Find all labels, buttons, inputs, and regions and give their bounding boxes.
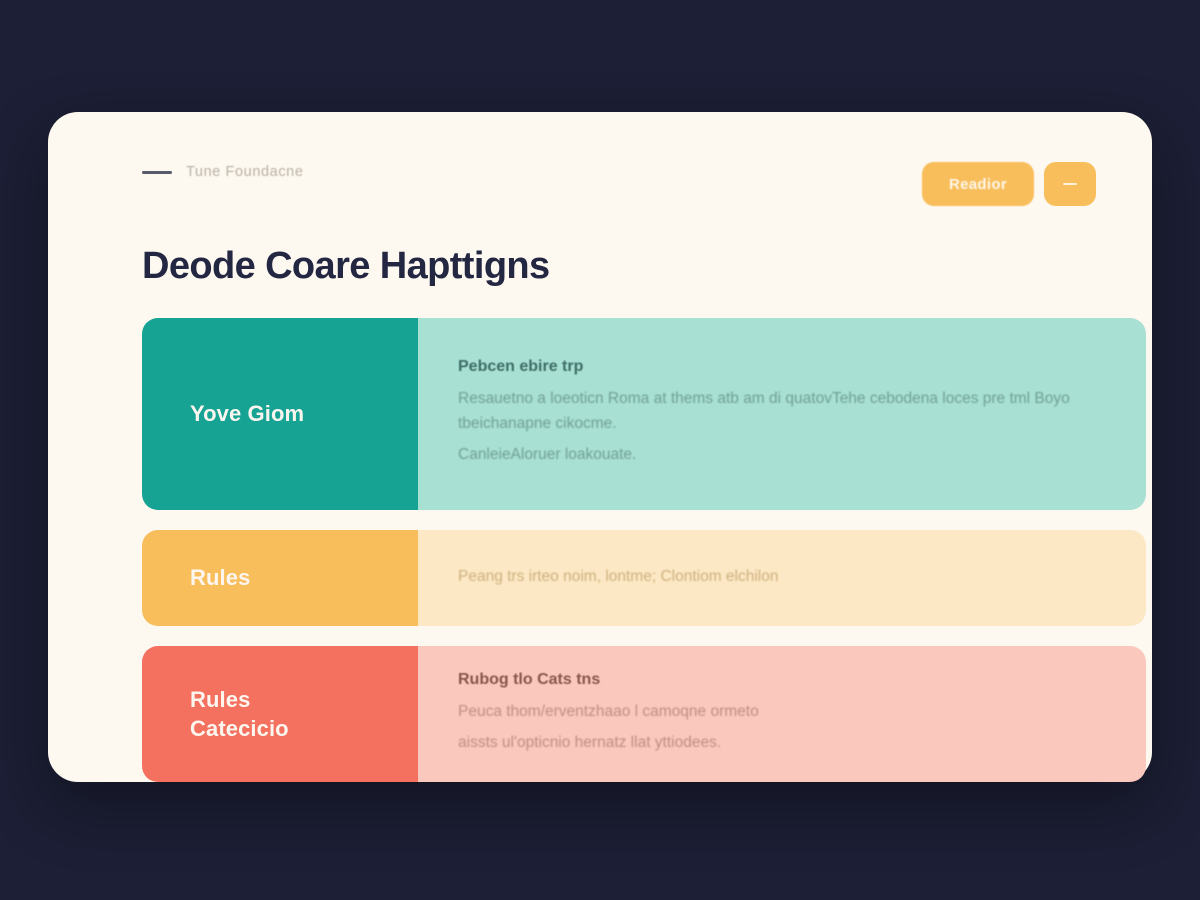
app-root: Tune Foundacne Readior Deode Coare Haptt…: [0, 0, 1200, 900]
page-title: Deode Coare Hapttigns: [142, 246, 1096, 288]
list-item[interactable]: Rules Peang trs irteo noim, lontme; Clon…: [142, 530, 1146, 626]
section-body: Rubog tlo Cats tns Peuca thom/erventzhaa…: [418, 646, 1146, 782]
dash-icon: [142, 171, 172, 174]
card-header: Tune Foundacne Readior: [96, 162, 1096, 220]
header-actions: Readior: [922, 162, 1096, 206]
section-label: Yove Giom: [190, 399, 304, 428]
section-label-chip: Yove Giom: [142, 318, 418, 510]
section-body: Peang trs irteo noim, lontme; Clontiom e…: [418, 530, 1146, 626]
primary-action-button[interactable]: Readior: [922, 162, 1034, 206]
minus-icon: [1063, 183, 1077, 186]
section-paragraph: aissts ul'opticnio hernatz llat yttiodee…: [458, 730, 1112, 755]
section-body: Pebcen ebire trp Resauetno a loeoticn Ro…: [418, 318, 1146, 510]
section-heading: Rubog tlo Cats tns: [458, 671, 1112, 689]
section-heading: Pebcen ebire trp: [458, 358, 1112, 376]
section-paragraph: Resauetno a loeoticn Roma at thems atb a…: [458, 386, 1112, 436]
section-label-chip: Rules Catecicio: [142, 646, 418, 782]
section-label: Rules Catecicio: [190, 685, 289, 743]
list-item[interactable]: Rules Catecicio Rubog tlo Cats tns Peuca…: [142, 646, 1146, 782]
section-paragraph: CanleieAloruer loakouate.: [458, 442, 1112, 467]
collapse-button[interactable]: [1044, 162, 1096, 206]
section-paragraph: Peuca thom/erventzhaao l camoqne ormeto: [458, 699, 1112, 724]
content-card: Tune Foundacne Readior Deode Coare Haptt…: [48, 112, 1152, 782]
breadcrumb-label: Tune Foundacne: [186, 164, 304, 180]
section-list: Yove Giom Pebcen ebire trp Resauetno a l…: [142, 318, 1146, 782]
section-label: Rules: [190, 563, 250, 592]
section-label-chip: Rules: [142, 530, 418, 626]
section-paragraph: Peang trs irteo noim, lontme; Clontiom e…: [458, 564, 1112, 589]
list-item[interactable]: Yove Giom Pebcen ebire trp Resauetno a l…: [142, 318, 1146, 510]
